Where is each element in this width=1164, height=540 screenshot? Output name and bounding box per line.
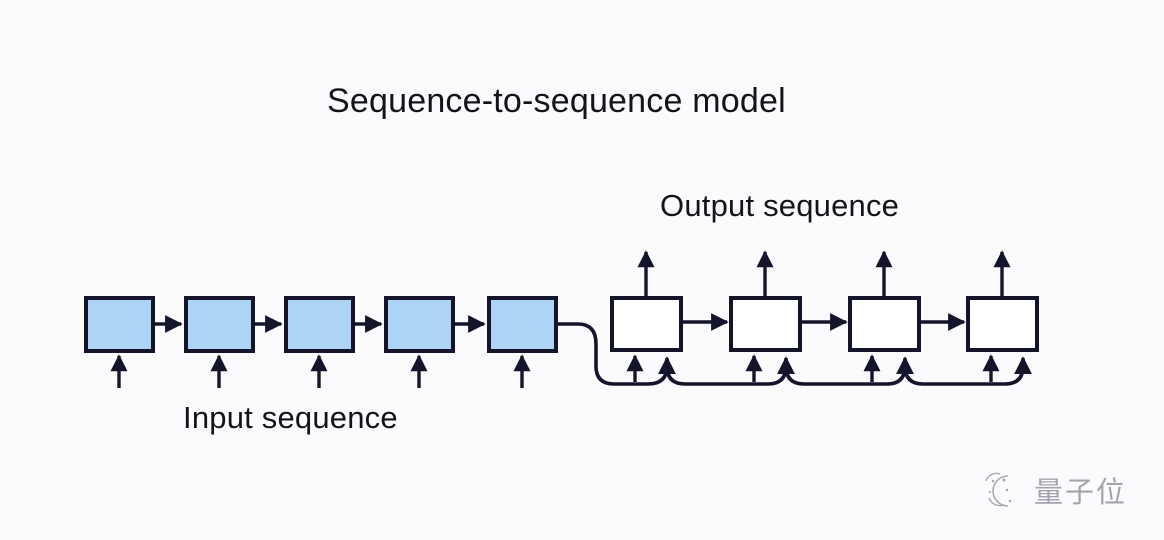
decoder-feedback-loops [667, 358, 1023, 384]
encoder-cell-1 [86, 298, 153, 351]
encoder-cell-2 [186, 298, 253, 351]
encoder-cell-3 [286, 298, 353, 351]
encoder-cell-4 [386, 298, 453, 351]
decoder-cell-1 [612, 298, 681, 350]
output-sequence-label: Output sequence [660, 188, 899, 224]
decoder-cell-3 [850, 298, 919, 350]
decoder-cell-4 [968, 298, 1037, 350]
seq2seq-diagram [0, 0, 1164, 540]
encoder-cell-5 [489, 298, 556, 351]
diagram-canvas: Sequence-to-sequence model Output sequen… [0, 0, 1164, 540]
smiley-face-logo [978, 468, 1024, 512]
decoder-feedback-2-3 [786, 358, 905, 384]
decoder-feedback-3-4 [905, 358, 1023, 384]
page-title: Sequence-to-sequence model [327, 82, 786, 121]
decoder-input-arrows [635, 356, 991, 382]
watermark: 量子位 [978, 462, 1148, 517]
input-sequence-label: Input sequence [183, 400, 398, 436]
decoder-feedback-1-2 [667, 358, 786, 384]
decoder-output-arrows [646, 252, 1002, 298]
decoder-cell-2 [731, 298, 800, 350]
encoder-input-arrows [119, 356, 522, 388]
watermark-text: 量子位 [1034, 469, 1127, 511]
decoder-group [612, 298, 1037, 350]
